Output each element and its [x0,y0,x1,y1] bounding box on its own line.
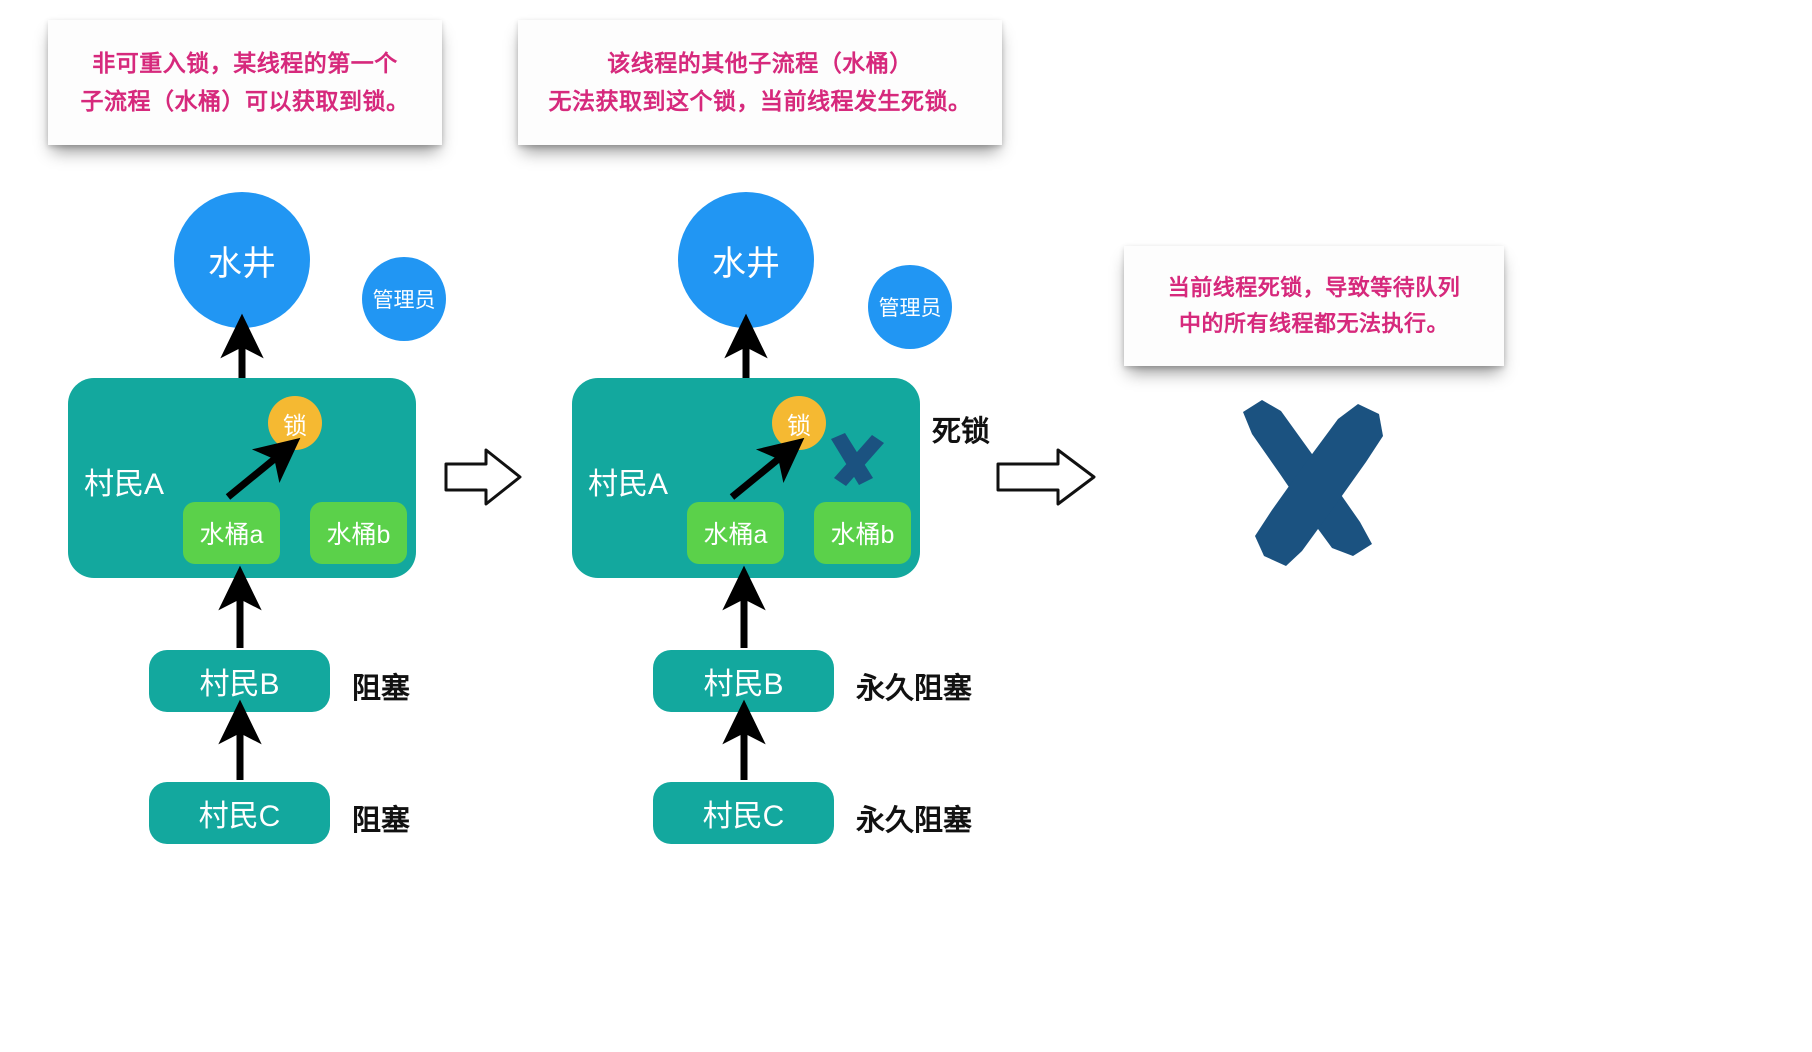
stage2-villager-b-status: 永久阻塞 [856,665,972,707]
stage2-deadlock-label: 死锁 [932,408,990,450]
stage2-lock-label: 锁 [787,406,811,441]
stage2-bucket-a-label: 水桶a [704,515,768,551]
stage2-villager-b-label: 村民B [703,659,783,703]
stage2-lock-circle: 锁 [772,396,826,450]
stage1-lock-circle: 锁 [268,396,322,450]
stage1-well-label: 水井 [208,236,276,285]
callout-note-1-text: 非可重入锁，某线程的第一个 子流程（水桶）可以获取到锁。 [81,45,410,120]
stage1-admin-label: 管理员 [373,284,436,314]
stage1-bucket-b: 水桶b [310,502,407,564]
stage2-villager-c-pill: 村民C [653,782,834,844]
callout-note-3-text: 当前线程死锁，导致等待队列 中的所有线程都无法执行。 [1168,270,1461,341]
stage1-villager-b-label: 村民B [199,659,279,703]
stage2-admin-circle: 管理员 [868,265,952,349]
stage2-villager-c-label: 村民C [703,791,785,835]
stage1-villager-a-label: 村民A [84,459,164,503]
transition-arrow-1 [446,450,520,504]
stage1-well-circle: 水井 [174,192,310,328]
stage1-bucket-b-label: 水桶b [327,515,391,551]
stage2-bucket-b-label: 水桶b [831,515,895,551]
callout-note-1: 非可重入锁，某线程的第一个 子流程（水桶）可以获取到锁。 [48,20,442,145]
diagram-canvas: 非可重入锁，某线程的第一个 子流程（水桶）可以获取到锁。 该线程的其他子流程（水… [0,0,1812,1052]
stage2-well-circle: 水井 [678,192,814,328]
callout-note-2-text: 该线程的其他子流程（水桶） 无法获取到这个锁，当前线程发生死锁。 [549,45,972,120]
callout-note-3: 当前线程死锁，导致等待队列 中的所有线程都无法执行。 [1124,246,1504,366]
stage1-admin-circle: 管理员 [362,257,446,341]
stage1-villager-c-status: 阻塞 [352,797,410,839]
stage2-villager-a-label: 村民A [588,459,668,503]
stage1-bucket-a: 水桶a [183,502,280,564]
stage1-villager-c-label: 村民C [199,791,281,835]
stage1-villager-c-pill: 村民C [149,782,330,844]
stage1-lock-label: 锁 [283,406,307,441]
transition-arrow-2 [998,450,1094,504]
stage2-bucket-b: 水桶b [814,502,911,564]
stage1-bucket-a-label: 水桶a [200,515,264,551]
stage1-villager-b-pill: 村民B [149,650,330,712]
stage2-admin-label: 管理员 [879,292,942,322]
callout-note-2: 该线程的其他子流程（水桶） 无法获取到这个锁，当前线程发生死锁。 [518,20,1002,145]
stage2-villager-c-status: 永久阻塞 [856,797,972,839]
stage3-deadlock-cross-icon [1243,400,1383,566]
stage1-villager-b-status: 阻塞 [352,665,410,707]
stage2-bucket-a: 水桶a [687,502,784,564]
stage2-villager-b-pill: 村民B [653,650,834,712]
stage2-well-label: 水井 [712,236,780,285]
